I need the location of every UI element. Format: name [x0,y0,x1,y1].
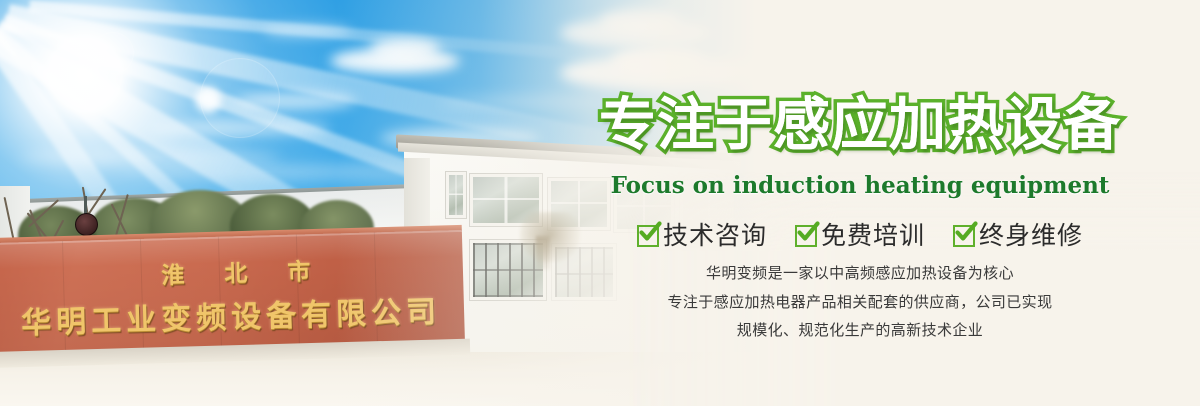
feature-label: 终身维修 [979,216,1083,252]
check-box-icon [637,223,660,246]
feature-list: 技术咨询 免费培训 终身维修 [540,216,1180,252]
feature-item: 技术咨询 [637,216,767,252]
check-box-icon [795,223,818,246]
description-block: 华明变频是一家以中高频感应加热设备为核心 专注于感应加热电器产品相关配套的供应商… [540,262,1180,348]
feature-item: 终身维修 [953,216,1083,252]
subheadline-text: Focus on induction heating equipment [540,172,1180,199]
lamp-icon [75,213,98,236]
feature-item: 免费培训 [795,216,925,252]
promo-banner: 淮 北 市 华明工业变频设备有限公司 专注于感应加热设备 专注于感应加热设备 F… [0,0,1200,406]
description-line: 华明变频是一家以中高频感应加热设备为核心 [540,262,1180,286]
check-box-icon [953,223,976,246]
window [446,172,466,218]
description-line: 专注于感应加热电器产品相关配套的供应商，公司已实现 [540,291,1180,315]
feature-label: 免费培训 [821,216,925,252]
banner-content: 专注于感应加热设备 专注于感应加热设备 Focus on induction h… [540,0,1180,406]
feature-label: 技术咨询 [663,216,767,252]
headline-text: 专注于感应加热设备 [540,97,1180,154]
description-line: 规模化、规范化生产的高新技术企业 [540,319,1180,343]
